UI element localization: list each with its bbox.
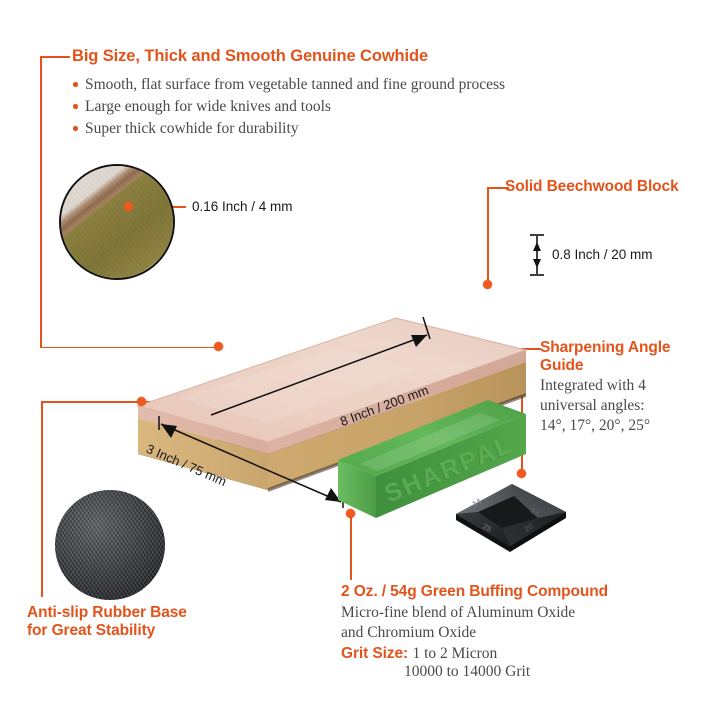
compound-body-line2: and Chromium Oxide	[341, 624, 476, 641]
block-thickness-arrow	[528, 232, 546, 283]
angle-guide-body-line2: universal angles:	[540, 397, 645, 414]
dot-rubber-base-corner	[137, 397, 146, 406]
rubber-shading	[55, 490, 165, 600]
infographic-canvas: Big Size, Thick and Smooth Genuine Cowhi…	[0, 0, 720, 720]
compound-body: Micro-fine blend of Aluminum Oxide and C…	[341, 603, 575, 642]
dot-leather-thickness	[124, 202, 133, 211]
angle-guide-heading: Sharpening Angle Guide	[540, 339, 710, 374]
dot-compound	[346, 509, 355, 518]
angle-guide-heading-line2: Guide	[540, 357, 583, 374]
rubber-base-heading: Anti-slip Rubber Base for Great Stabilit…	[27, 604, 287, 639]
leader-rubber-vertical	[41, 401, 43, 597]
list-item: Smooth, flat surface from vegetable tann…	[72, 74, 652, 96]
rubber-base-heading-line1: Anti-slip Rubber Base	[27, 604, 187, 621]
angle-guide-body-line3: 14°, 17°, 20°, 25°	[540, 417, 650, 434]
list-item: Super thick cowhide for durability	[72, 118, 652, 140]
angle-guide-body: Integrated with 4 universal angles: 14°,…	[540, 376, 715, 436]
block-thickness-label: 0.8 Inch / 20 mm	[552, 247, 653, 262]
leader-cowhide-top	[40, 56, 70, 58]
compound-body-line1: Micro-fine blend of Aluminum Oxide	[341, 604, 575, 621]
beechwood-heading: Solid Beechwood Block	[505, 178, 679, 196]
angle-guide-body-line1: Integrated with 4	[540, 377, 646, 394]
leader-cowhide-vertical	[40, 56, 42, 348]
grit-size-row: Grit Size: 1 to 2 Micron	[341, 645, 497, 663]
anti-slip-rubber-base-swatch	[55, 490, 165, 600]
cowhide-heading: Big Size, Thick and Smooth Genuine Cowhi…	[72, 47, 428, 66]
leather-thickness-label: 0.16 Inch / 4 mm	[192, 199, 293, 214]
dot-angle-guide	[517, 469, 526, 478]
rubber-base-heading-line2: for Great Stability	[27, 622, 155, 639]
angle-guide-heading-line1: Sharpening Angle	[540, 339, 670, 356]
cowhide-bullet-list: Smooth, flat surface from vegetable tann…	[72, 74, 652, 140]
grit-size-value: 1 to 2 Micron	[413, 645, 498, 662]
leader-compound-vertical	[350, 513, 352, 580]
grit-size-label: Grit Size:	[341, 645, 408, 662]
compound-heading: 2 Oz. / 54g Green Buffing Compound	[341, 583, 608, 601]
grit-size-value-2: 10000 to 14000 Grit	[404, 663, 530, 681]
list-item: Large enough for wide knives and tools	[72, 96, 652, 118]
dot-beechwood-edge	[483, 280, 492, 289]
sharpening-angle-guide: 14 17 20 25	[452, 462, 570, 552]
